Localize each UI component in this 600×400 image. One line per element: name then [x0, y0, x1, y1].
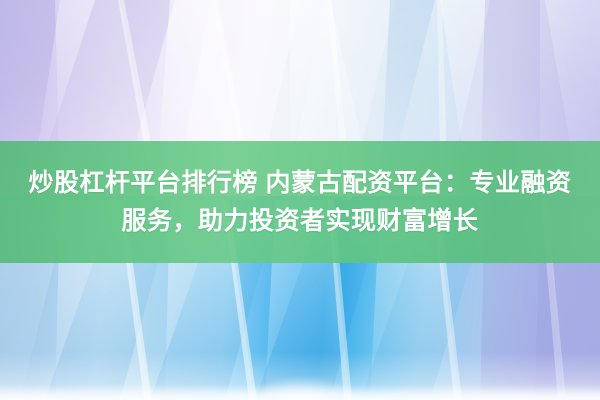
promo-banner: 炒股杠杆平台排行榜 内蒙古配资平台：专业融资 服务，助力投资者实现财富增长	[0, 0, 600, 400]
headline-line-2: 服务，助力投资者实现财富增长	[121, 202, 478, 240]
bottom-watermark-glow	[255, 378, 350, 400]
headline-band: 炒股杠杆平台排行榜 内蒙古配资平台：专业融资 服务，助力投资者实现财富增长	[0, 141, 600, 263]
headline-line-1: 炒股杠杆平台排行榜 内蒙古配资平台：专业融资	[29, 164, 572, 202]
